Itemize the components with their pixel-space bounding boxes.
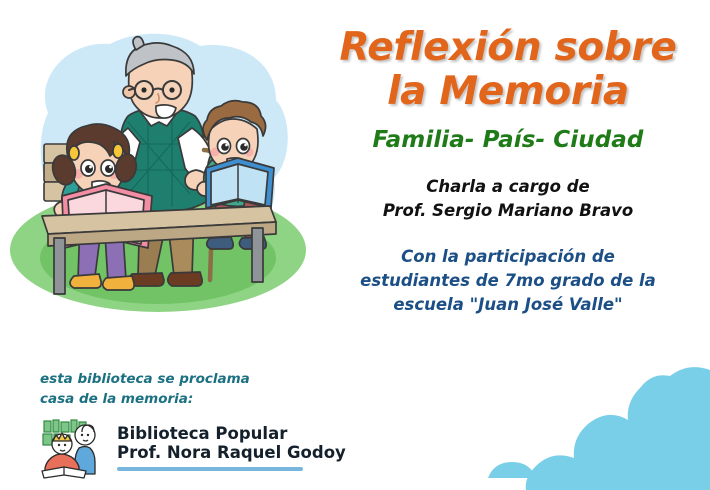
speaker-name: Prof. Sergio Mariano Bravo [383, 201, 633, 220]
girl-left-shoe [70, 274, 101, 288]
logo-underline-rule [117, 467, 303, 471]
hair-clip-right [113, 144, 123, 158]
proclamation-text: esta biblioteca se proclama casa de la m… [40, 370, 280, 409]
poster-text-column: Reflexión sobre la Memoria Familia- País… [312, 26, 704, 317]
poster-canvas: Reflexión sobre la Memoria Familia- País… [0, 0, 710, 490]
hair-clip-left [69, 146, 79, 160]
speaker-block: Charla a cargo de Prof. Sergio Mariano B… [312, 175, 704, 222]
library-logo: Biblioteca Popular Prof. Nora Raquel God… [38, 418, 346, 480]
grandpa-right-shoe [168, 272, 202, 286]
poster-subtitle: Familia- País- Ciudad [312, 127, 704, 153]
library-name-line-1: Biblioteca Popular [117, 424, 346, 443]
library-name-line-2: Prof. Nora Raquel Godoy [117, 443, 346, 462]
illustration-svg [8, 18, 308, 318]
participation-block: Con la participación de estudiantes de 7… [312, 245, 704, 317]
title-line-2: la Memoria [387, 69, 629, 114]
participation-line-1: Con la participación de [401, 247, 615, 266]
cloud-shape-bottom-right [440, 360, 710, 490]
library-logo-text: Biblioteca Popular Prof. Nora Raquel God… [117, 418, 346, 471]
page-title: Reflexión sobre la Memoria [312, 26, 704, 113]
participation-line-2: estudiantes de 7mo grado de la [360, 271, 656, 290]
title-line-1: Reflexión sobre [339, 25, 676, 70]
proclamation-line-1: esta biblioteca se proclama [40, 371, 250, 387]
participation-line-3: escuela "Juan José Valle" [393, 295, 622, 314]
boy-book [206, 158, 274, 208]
proclamation-line-2: casa de la memoria: [40, 391, 193, 407]
library-readers-icon [38, 418, 108, 480]
main-illustration [8, 18, 308, 318]
girl-right-shoe [103, 276, 134, 290]
bench-leg-right [252, 228, 263, 282]
bench-leg-left [54, 238, 65, 294]
speaker-intro: Charla a cargo de [426, 177, 590, 196]
boy-left-shoe [207, 237, 233, 249]
